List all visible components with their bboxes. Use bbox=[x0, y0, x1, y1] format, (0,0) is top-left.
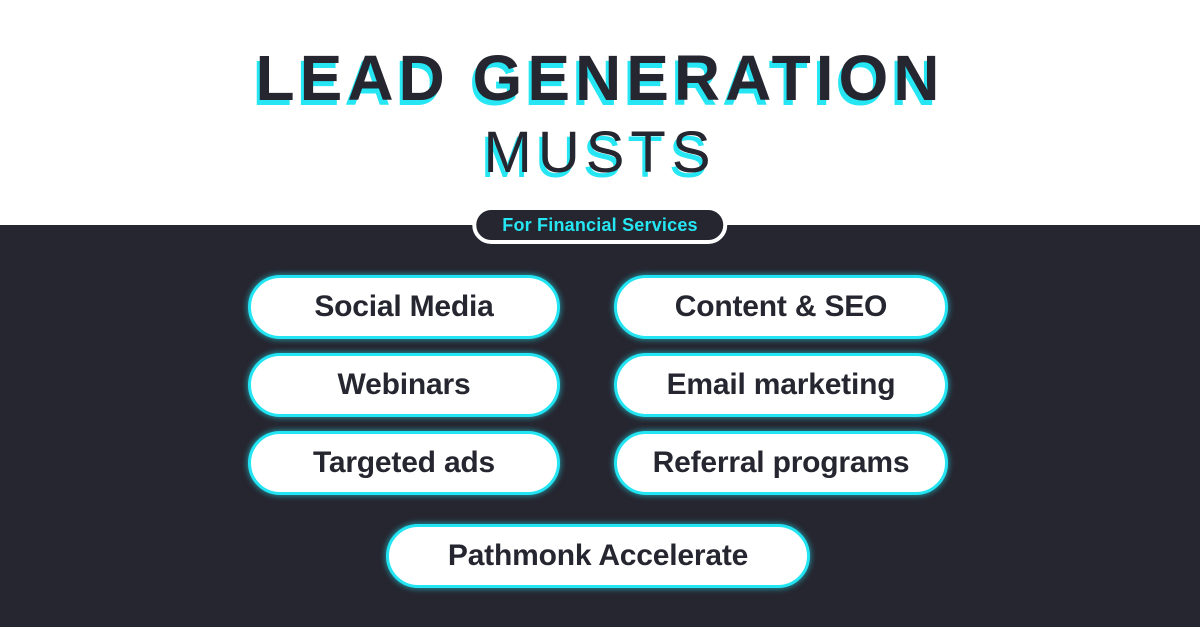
pill-row: Webinars Email marketing bbox=[248, 353, 948, 417]
pill-label: Targeted ads bbox=[313, 446, 495, 480]
pill-label: Webinars bbox=[338, 368, 471, 402]
pill-label: Pathmonk Accelerate bbox=[448, 539, 748, 573]
pill-content-seo[interactable]: Content & SEO bbox=[614, 275, 948, 339]
pill-pathmonk-accelerate[interactable]: Pathmonk Accelerate bbox=[386, 524, 810, 588]
subtitle-badge-label: For Financial Services bbox=[502, 215, 697, 236]
pill-social-media[interactable]: Social Media bbox=[248, 275, 560, 339]
subtitle-badge: For Financial Services bbox=[472, 206, 727, 244]
pill-row: Targeted ads Referral programs bbox=[248, 431, 948, 495]
pill-featured-row: Pathmonk Accelerate bbox=[248, 524, 948, 588]
pill-label: Social Media bbox=[314, 290, 493, 324]
pill-grid: Social Media Content & SEO Webinars Emai… bbox=[248, 275, 948, 588]
pill-webinars[interactable]: Webinars bbox=[248, 353, 560, 417]
headline-line-2: MUSTS bbox=[0, 124, 1200, 182]
pill-email-marketing[interactable]: Email marketing bbox=[614, 353, 948, 417]
pill-referral-programs[interactable]: Referral programs bbox=[614, 431, 948, 495]
pill-targeted-ads[interactable]: Targeted ads bbox=[248, 431, 560, 495]
pill-label: Email marketing bbox=[667, 368, 896, 402]
pill-row: Social Media Content & SEO bbox=[248, 275, 948, 339]
headline-line-1: LEAD GENERATION bbox=[0, 46, 1200, 110]
pill-label: Referral programs bbox=[653, 446, 910, 480]
page-title: LEAD GENERATION MUSTS bbox=[0, 46, 1200, 182]
pill-label: Content & SEO bbox=[675, 290, 887, 324]
infographic-canvas: LEAD GENERATION MUSTS For Financial Serv… bbox=[0, 0, 1200, 627]
